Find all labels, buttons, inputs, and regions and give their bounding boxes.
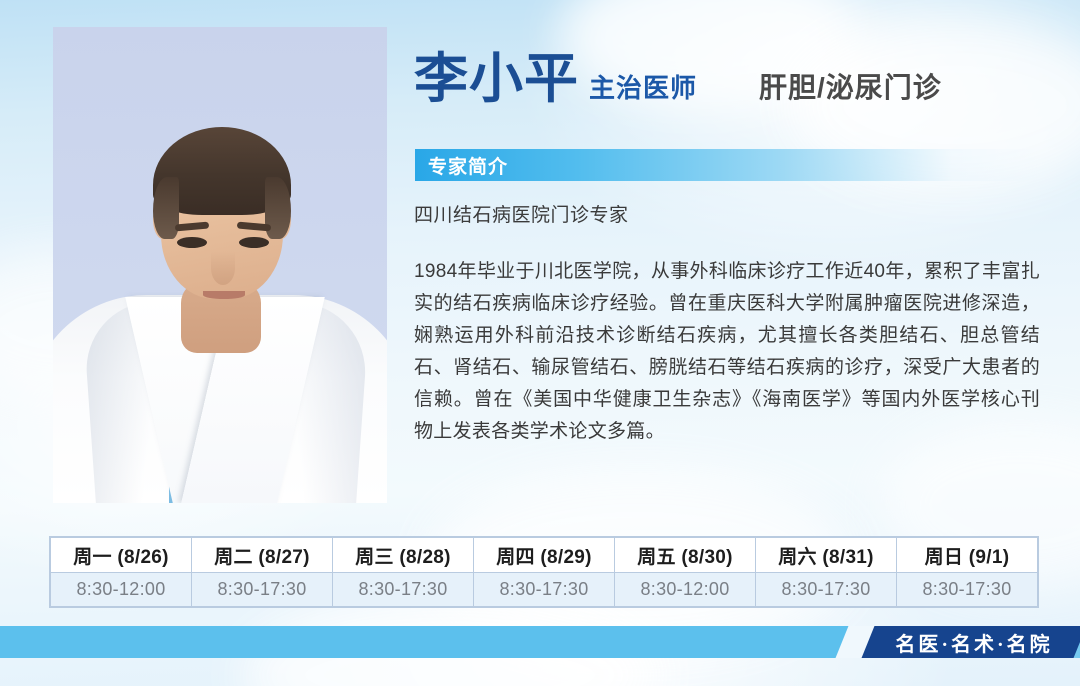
schedule-hours-cell: 8:30-17:30 [192,573,333,607]
doctor-department: 肝胆/泌尿门诊 [759,66,942,106]
bio-lead-line: 四川结石病医院门诊专家 [414,200,629,227]
schedule-hours-cell: 8:30-17:30 [333,573,474,607]
nose [211,251,235,285]
schedule-day-header: 周六 (8/31) [756,538,897,573]
schedule-hours-row: 8:30-12:00 8:30-17:30 8:30-17:30 8:30-17… [51,573,1038,607]
schedule-day-header: 周三 (8/28) [333,538,474,573]
doctor-portrait-photo [53,27,387,503]
schedule-header-row: 周一 (8/26) 周二 (8/27) 周三 (8/28) 周四 (8/29) … [51,538,1038,573]
mouth [203,291,245,299]
schedule-hours-cell: 8:30-17:30 [756,573,897,607]
doctor-rank: 主治医师 [589,68,697,105]
schedule-day-header: 周四 (8/29) [474,538,615,573]
schedule-day-header: 周一 (8/26) [51,538,192,573]
doctor-profile-card: 李小平 主治医师 肝胆/泌尿门诊 专家简介 四川结石病医院门诊专家 1984年毕… [0,0,1080,686]
section-header-bar: 专家简介 [415,149,1039,181]
schedule-hours-cell: 8:30-12:00 [51,573,192,607]
schedule-hours-cell: 8:30-17:30 [474,573,615,607]
footer-slogan-text: 名医·名术·名院 [868,626,1080,658]
schedule-day-header: 周五 (8/30) [615,538,756,573]
schedule-day-header: 周日 (9/1) [897,538,1038,573]
eye-right [239,237,269,248]
section-header-label: 专家简介 [415,152,508,179]
schedule-day-header: 周二 (8/27) [192,538,333,573]
eye-left [177,237,207,248]
doctor-name: 李小平 [414,52,579,106]
weekly-schedule-table: 周一 (8/26) 周二 (8/27) 周三 (8/28) 周四 (8/29) … [50,537,1038,607]
portrait-figure [53,27,387,503]
schedule-hours-cell: 8:30-17:30 [897,573,1038,607]
doctor-title-row: 李小平 主治医师 肝胆/泌尿门诊 [414,52,942,106]
bio-body-text: 1984年毕业于川北医学院，从事外科临床诊疗工作近40年，累积了丰富扎实的结石疾… [414,256,1040,448]
schedule-hours-cell: 8:30-12:00 [615,573,756,607]
